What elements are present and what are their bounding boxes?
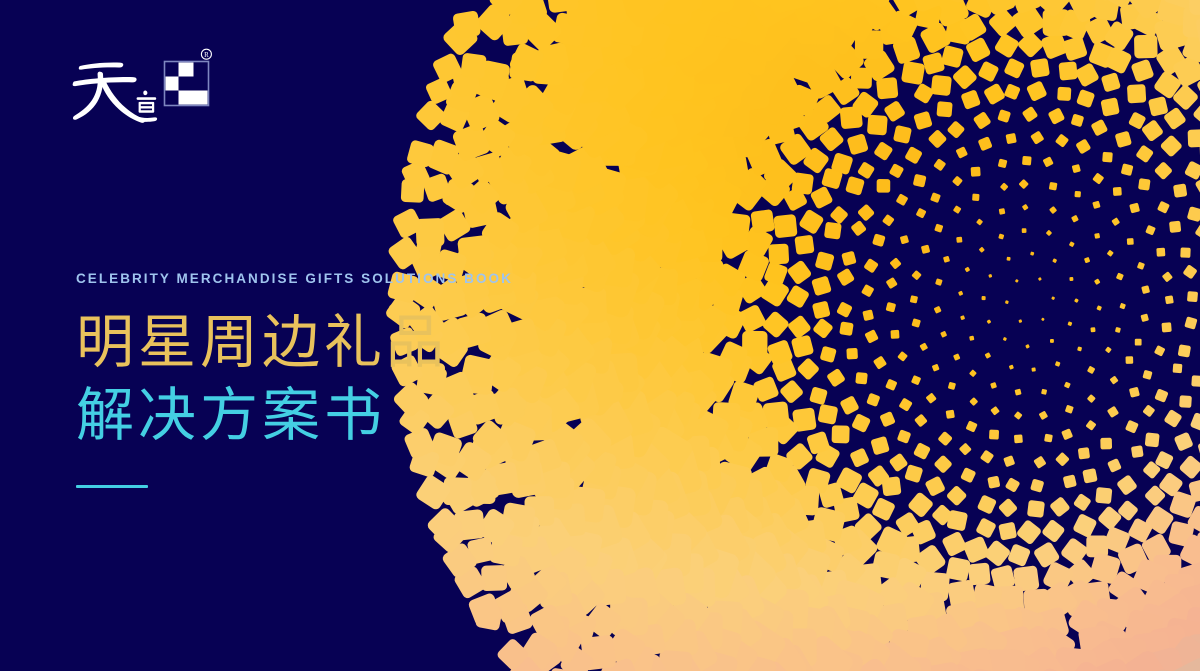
halftone-dot xyxy=(1104,638,1146,671)
halftone-dot xyxy=(1042,561,1075,594)
halftone-dot xyxy=(853,512,883,542)
halftone-dot xyxy=(1079,656,1140,671)
halftone-dot xyxy=(1148,96,1169,117)
halftone-dot xyxy=(762,401,789,428)
halftone-dot xyxy=(548,196,597,245)
halftone-dot xyxy=(824,222,842,240)
halftone-dot xyxy=(508,655,546,671)
halftone-dot xyxy=(1137,262,1145,270)
halftone-dot xyxy=(840,656,902,671)
halftone-dot xyxy=(881,476,901,496)
halftone-dot xyxy=(682,462,739,519)
halftone-dot xyxy=(1064,382,1071,389)
halftone-dot xyxy=(1006,605,1045,644)
halftone-dot xyxy=(785,44,827,86)
halftone-dot xyxy=(814,442,841,469)
halftone-dot xyxy=(566,186,628,248)
halftone-dot xyxy=(836,268,855,287)
halftone-dot xyxy=(913,442,931,460)
halftone-dot xyxy=(488,532,523,567)
halftone-dot xyxy=(508,82,556,130)
halftone-dot xyxy=(639,115,696,172)
halftone-dot xyxy=(562,611,597,646)
halftone-dot xyxy=(864,329,879,344)
halftone-dot xyxy=(1085,420,1096,431)
halftone-dot xyxy=(812,318,834,340)
halftone-dot xyxy=(1168,520,1195,547)
halftone-dot xyxy=(392,207,424,239)
halftone-dot xyxy=(716,224,752,260)
halftone-dot xyxy=(594,536,640,582)
halftone-dot xyxy=(837,527,880,570)
halftone-dot xyxy=(603,278,667,342)
halftone-dot xyxy=(1005,300,1009,304)
halftone-dot xyxy=(907,491,934,518)
halftone-dot xyxy=(733,652,778,671)
halftone-dot xyxy=(914,414,928,428)
halftone-dot xyxy=(886,302,897,313)
halftone-dot xyxy=(625,45,679,99)
halftone-dot xyxy=(969,336,974,341)
halftone-dot xyxy=(911,375,921,385)
halftone-dot xyxy=(697,207,731,241)
halftone-dot xyxy=(988,274,992,278)
halftone-dot xyxy=(1049,496,1071,518)
halftone-dot xyxy=(1141,578,1181,618)
halftone-dot xyxy=(797,0,842,17)
halftone-dot xyxy=(591,0,629,29)
halftone-dot xyxy=(782,21,817,56)
halftone-dot xyxy=(889,453,909,473)
halftone-dot xyxy=(577,85,633,141)
halftone-dot xyxy=(766,339,793,366)
halftone-dot xyxy=(941,531,968,558)
halftone-dot xyxy=(1160,134,1183,157)
halftone-dot xyxy=(1177,560,1200,599)
halftone-dot xyxy=(877,179,891,193)
halftone-dot xyxy=(607,320,671,384)
halftone-dot xyxy=(832,425,850,443)
halftone-dot xyxy=(736,495,776,535)
halftone-dot xyxy=(548,667,576,671)
registered-trademark-icon: R xyxy=(201,49,211,59)
halftone-dot xyxy=(1140,532,1172,564)
halftone-dot xyxy=(506,514,540,548)
halftone-dot xyxy=(660,269,704,313)
halftone-dot xyxy=(1117,542,1150,575)
halftone-dot xyxy=(872,233,886,247)
halftone-dot xyxy=(432,52,464,84)
halftone-dot xyxy=(692,351,734,393)
halftone-dot xyxy=(734,529,789,584)
halftone-dot xyxy=(722,432,765,475)
halftone-dot xyxy=(629,129,692,192)
halftone-dot xyxy=(707,495,751,539)
halftone-dot xyxy=(936,101,952,117)
halftone-dot xyxy=(761,310,790,339)
halftone-dot xyxy=(810,593,852,635)
halftone-dot xyxy=(1129,203,1140,214)
halftone-dot xyxy=(1087,366,1096,375)
halftone-dot xyxy=(997,109,1011,123)
halftone-dot xyxy=(802,146,830,174)
halftone-dot xyxy=(1096,0,1141,10)
halftone-dot xyxy=(857,161,875,179)
halftone-dot xyxy=(1117,499,1139,521)
halftone-dot xyxy=(441,178,478,215)
halftone-dot xyxy=(863,258,879,274)
halftone-dot xyxy=(591,301,635,345)
halftone-dot xyxy=(1158,472,1184,498)
halftone-dot xyxy=(735,401,770,436)
halftone-dot xyxy=(1078,447,1090,459)
halftone-dot xyxy=(750,209,775,234)
halftone-dot xyxy=(604,509,652,557)
halftone-dot xyxy=(919,21,952,54)
halftone-dot xyxy=(759,68,804,113)
halftone-dot xyxy=(661,469,712,520)
halftone-dot xyxy=(591,243,636,288)
halftone-dot xyxy=(740,11,793,64)
halftone-dot xyxy=(557,142,611,196)
halftone-dot xyxy=(897,351,908,362)
halftone-dot xyxy=(599,657,642,671)
halftone-dot xyxy=(444,483,476,515)
halftone-dot xyxy=(1013,565,1040,592)
halftone-dot xyxy=(660,136,711,187)
halftone-dot xyxy=(609,79,659,129)
halftone-dot xyxy=(742,344,774,376)
halftone-dot xyxy=(972,194,979,201)
halftone-dot xyxy=(532,53,565,86)
halftone-dot xyxy=(1003,57,1025,79)
halftone-dot xyxy=(944,16,973,45)
halftone-dot xyxy=(774,100,807,133)
halftone-dot xyxy=(748,84,791,127)
halftone-dot xyxy=(676,110,721,155)
halftone-dot xyxy=(768,244,789,265)
halftone-dot xyxy=(936,662,991,671)
halftone-dot xyxy=(771,463,808,500)
halftone-dot xyxy=(931,0,970,28)
halftone-dot xyxy=(623,94,681,152)
halftone-dot xyxy=(457,235,493,271)
halftone-dot xyxy=(1157,201,1170,214)
halftone-dot xyxy=(638,350,696,408)
halftone-dot xyxy=(1027,500,1045,518)
halftone-dot xyxy=(941,45,965,69)
halftone-dot xyxy=(730,72,771,113)
halftone-dot xyxy=(529,562,568,601)
halftone-dot xyxy=(682,298,729,345)
halftone-dot xyxy=(547,0,586,11)
halftone-dot xyxy=(1172,83,1200,111)
halftone-dot xyxy=(623,538,670,585)
halftone-dot xyxy=(710,303,747,340)
halftone-dot xyxy=(1181,33,1200,64)
halftone-dot xyxy=(814,569,850,605)
halftone-dot xyxy=(1128,111,1147,130)
halftone-dot xyxy=(1154,388,1168,402)
halftone-dot xyxy=(876,77,898,99)
halftone-dot xyxy=(630,506,675,551)
halftone-dot xyxy=(1119,2,1147,30)
halftone-dot xyxy=(501,602,534,635)
halftone-dot xyxy=(937,431,953,447)
halftone-dot xyxy=(1184,160,1200,180)
halftone-dot xyxy=(879,411,895,427)
halftone-dot xyxy=(1055,361,1061,367)
halftone-dot xyxy=(910,295,918,303)
headline-line-2: 解决方案书 xyxy=(76,381,596,449)
halftone-dot xyxy=(445,80,479,114)
halftone-dot xyxy=(1196,526,1200,556)
halftone-dot xyxy=(892,657,932,671)
halftone-dot xyxy=(934,306,942,314)
halftone-dot xyxy=(657,71,719,133)
halftone-dot xyxy=(796,357,820,381)
halftone-dot xyxy=(789,519,827,557)
halftone-dot xyxy=(1082,0,1121,3)
halftone-dot xyxy=(751,635,809,671)
halftone-dot xyxy=(603,52,646,95)
halftone-dot xyxy=(982,296,986,300)
halftone-dot xyxy=(569,106,623,160)
halftone-dot xyxy=(496,637,531,671)
halftone-dot xyxy=(953,205,962,214)
halftone-dot xyxy=(717,348,753,384)
halftone-dot xyxy=(1119,303,1126,310)
halftone-dot xyxy=(1041,519,1066,544)
halftone-dot xyxy=(1030,478,1044,492)
halftone-dot xyxy=(529,515,575,561)
halftone-dot xyxy=(1039,411,1049,421)
halftone-dot xyxy=(796,6,835,45)
halftone-dot xyxy=(1030,58,1050,78)
halftone-dot xyxy=(1033,541,1061,569)
halftone-dot xyxy=(514,535,556,577)
halftone-dot xyxy=(992,609,1024,641)
halftone-dot xyxy=(930,192,941,203)
halftone-dot xyxy=(1009,364,1014,369)
halftone-dot xyxy=(610,256,661,307)
halftone-dot xyxy=(871,497,896,522)
halftone-dot xyxy=(686,148,728,190)
halftone-dot xyxy=(454,509,486,541)
halftone-dot xyxy=(969,397,978,406)
halftone-dot xyxy=(539,70,587,118)
halftone-dot xyxy=(665,335,707,377)
halftone-dot xyxy=(478,60,511,93)
halftone-dot xyxy=(1103,20,1135,52)
halftone-dot xyxy=(812,93,843,124)
halftone-dot xyxy=(1153,555,1181,583)
halftone-dot xyxy=(1094,278,1101,285)
halftone-dot xyxy=(815,251,835,271)
halftone-dot xyxy=(1043,156,1054,167)
halftone-dot xyxy=(1196,73,1200,103)
halftone-dot xyxy=(1163,107,1187,131)
halftone-dot xyxy=(1188,478,1200,502)
halftone-dot xyxy=(1161,0,1200,12)
halftone-dot xyxy=(654,158,701,205)
halftone-dot xyxy=(632,623,666,657)
halftone-dot xyxy=(708,499,765,556)
halftone-dot xyxy=(509,52,539,82)
halftone-dot xyxy=(592,25,634,67)
halftone-dot xyxy=(1173,363,1183,373)
halftone-dot xyxy=(475,507,516,548)
halftone-dot xyxy=(1084,14,1115,45)
halftone-dot xyxy=(503,188,550,235)
halftone-dot xyxy=(821,167,843,189)
halftone-dot xyxy=(798,209,825,236)
halftone-dot xyxy=(763,261,789,287)
halftone-dot xyxy=(1100,97,1120,117)
halftone-dot xyxy=(803,60,844,101)
halftone-dot xyxy=(759,276,791,308)
halftone-dot xyxy=(796,108,831,143)
halftone-dot xyxy=(1094,598,1128,632)
halftone-dot xyxy=(1078,625,1113,660)
halftone-dot xyxy=(827,627,877,671)
halftone-dot xyxy=(602,398,664,460)
halftone-dot xyxy=(699,625,743,669)
halftone-dot xyxy=(833,496,860,523)
halftone-dot xyxy=(561,31,605,75)
halftone-dot xyxy=(1030,666,1085,671)
halftone-dot xyxy=(387,235,423,271)
halftone-dot xyxy=(1076,89,1095,108)
halftone-dot xyxy=(699,175,744,220)
halftone-dot xyxy=(644,200,688,244)
halftone-dot xyxy=(524,496,554,526)
halftone-dot xyxy=(851,67,872,88)
halftone-dot xyxy=(989,430,999,440)
halftone-dot xyxy=(1154,161,1173,180)
halftone-dot xyxy=(851,90,880,119)
halftone-dot xyxy=(889,579,937,627)
halftone-dot xyxy=(508,100,546,138)
halftone-dot xyxy=(453,565,488,600)
halftone-dot xyxy=(1184,316,1197,329)
halftone-dot xyxy=(634,297,685,348)
halftone-dot xyxy=(1135,339,1142,346)
halftone-dot xyxy=(701,527,759,585)
halftone-dot xyxy=(889,0,929,18)
halftone-dot xyxy=(786,284,811,309)
halftone-dot xyxy=(998,498,1018,518)
halftone-dot xyxy=(1125,420,1139,434)
halftone-dot xyxy=(400,159,431,190)
halftone-dot xyxy=(859,0,899,32)
halftone-dot xyxy=(1005,133,1016,144)
halftone-dot xyxy=(1097,505,1123,531)
halftone-dot xyxy=(1135,144,1154,163)
halftone-dot xyxy=(712,402,741,431)
halftone-dot xyxy=(950,624,987,661)
halftone-dot xyxy=(537,148,582,193)
halftone-dot xyxy=(767,496,811,540)
halftone-dot xyxy=(933,454,952,473)
halftone-dot xyxy=(743,465,780,502)
halftone-dot xyxy=(985,352,992,359)
halftone-dot xyxy=(696,364,736,404)
halftone-dot xyxy=(913,83,935,105)
halftone-dot xyxy=(626,498,669,541)
halftone-dot xyxy=(1165,295,1174,304)
halftone-dot xyxy=(1058,8,1092,42)
halftone-dot xyxy=(934,224,943,233)
halftone-dot xyxy=(861,639,924,671)
halftone-dot xyxy=(467,536,495,564)
halftone-dot xyxy=(520,9,564,53)
halftone-dot xyxy=(1057,658,1121,671)
halftone-dot xyxy=(833,627,893,671)
halftone-dot xyxy=(921,245,930,254)
halftone-dot xyxy=(946,410,955,419)
halftone-dot xyxy=(706,600,743,637)
halftone-dot xyxy=(548,591,589,632)
halftone-dot xyxy=(479,2,512,35)
halftone-dot xyxy=(1022,228,1027,233)
halftone-dot xyxy=(893,125,912,144)
halftone-dot xyxy=(1025,344,1030,349)
halftone-dot xyxy=(1192,101,1200,126)
halftone-dot xyxy=(622,391,687,456)
halftone-dot xyxy=(688,248,725,285)
halftone-dot xyxy=(896,193,909,206)
halftone-dot xyxy=(984,0,1017,16)
halftone-dot xyxy=(1127,84,1146,103)
halftone-dot xyxy=(1078,637,1131,671)
halftone-dot xyxy=(680,88,735,143)
halftone-dot xyxy=(1095,487,1112,504)
halftone-dot xyxy=(1022,106,1039,123)
halftone-dot xyxy=(1145,225,1156,236)
halftone-dot xyxy=(964,0,999,19)
halftone-dot xyxy=(1113,187,1122,196)
halftone-dot xyxy=(441,19,479,57)
halftone-dot xyxy=(1016,519,1043,546)
halftone-dot xyxy=(1090,119,1108,137)
halftone-dot xyxy=(1003,455,1015,467)
halftone-dot xyxy=(749,427,779,457)
halftone-dot xyxy=(1018,319,1022,323)
halftone-dot xyxy=(615,19,669,73)
halftone-dot xyxy=(658,650,693,671)
halftone-dot xyxy=(862,309,874,321)
halftone-dot xyxy=(945,600,982,637)
halftone-dot xyxy=(681,0,731,26)
halftone-dot xyxy=(783,543,832,592)
halftone-dot xyxy=(647,445,704,502)
halftone-dot xyxy=(905,614,940,649)
halftone-dot xyxy=(920,571,950,601)
halftone-dot xyxy=(826,368,846,388)
halftone-dot xyxy=(1074,62,1100,88)
halftone-dot xyxy=(1194,223,1200,240)
halftone-dot xyxy=(999,208,1006,215)
halftone-dot xyxy=(610,306,663,359)
halftone-dot xyxy=(1096,305,1102,311)
halftone-dot xyxy=(749,511,794,556)
halftone-dot xyxy=(888,556,929,597)
halftone-dot xyxy=(793,632,856,671)
halftone-dot xyxy=(755,39,798,82)
halftone-dot xyxy=(593,532,632,571)
halftone-dot xyxy=(1067,0,1108,24)
